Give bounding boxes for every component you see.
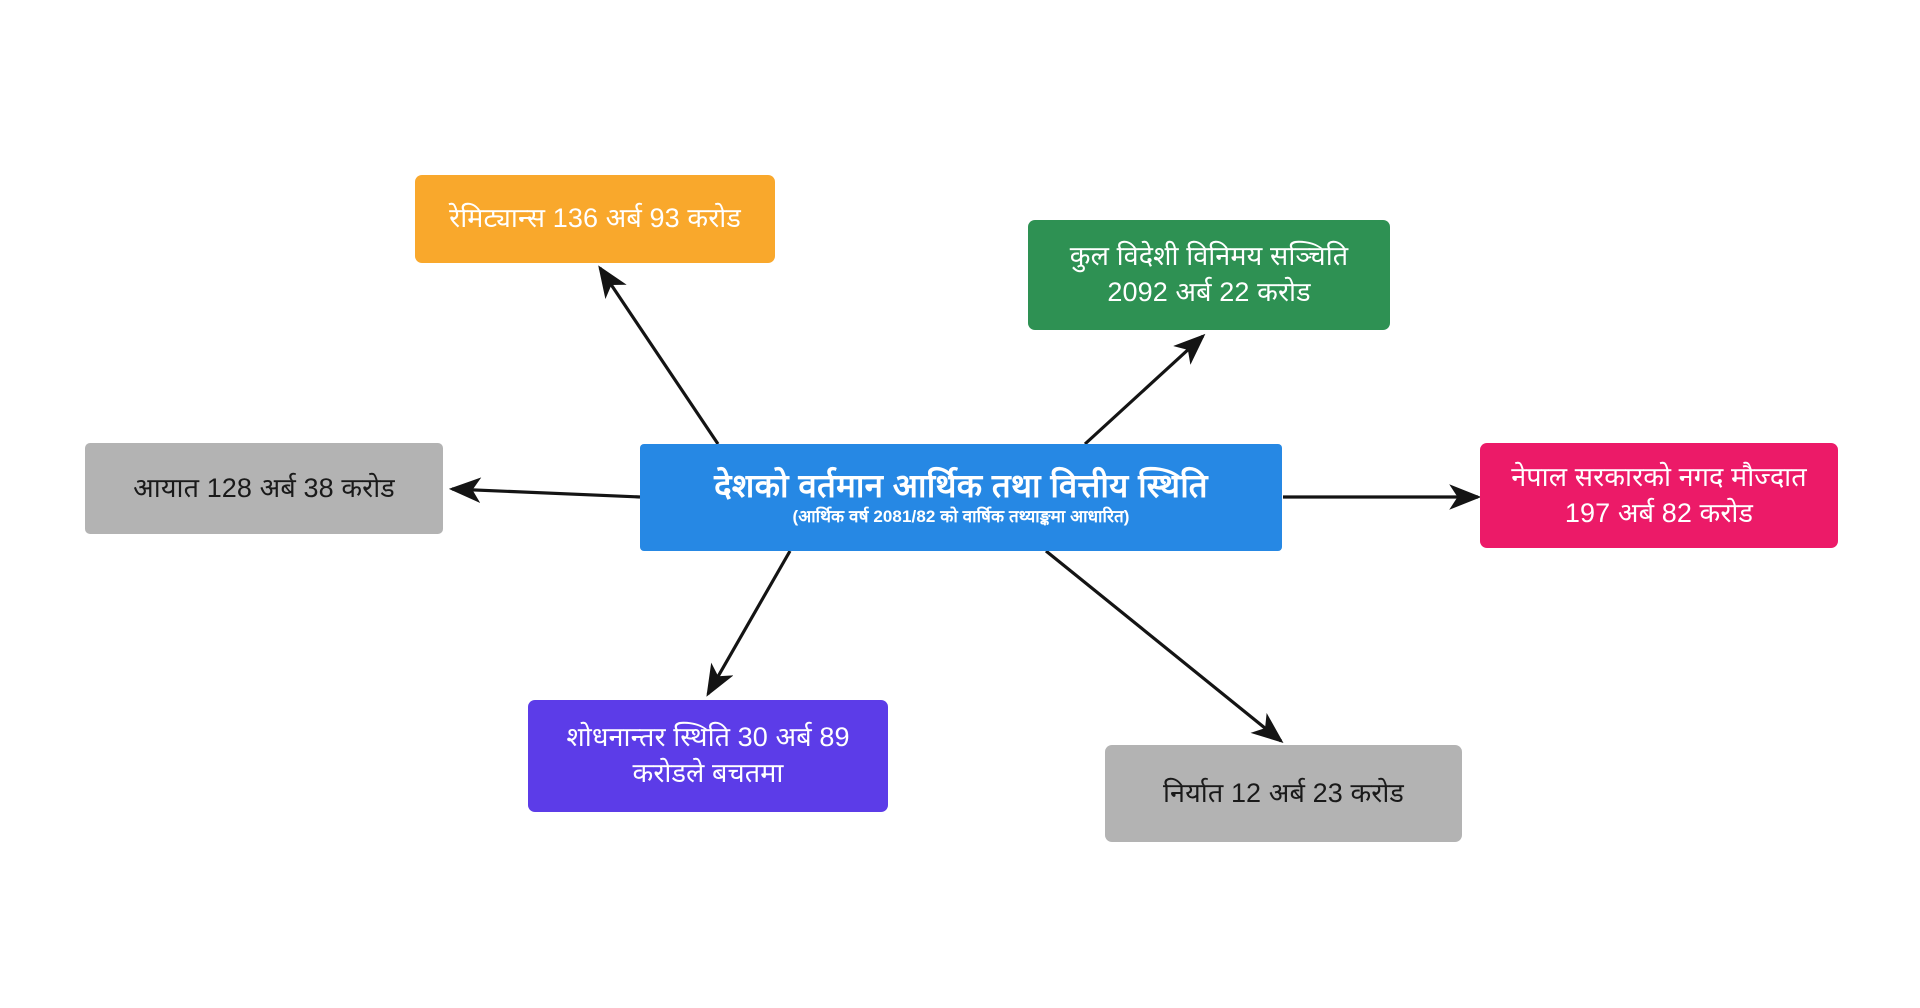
- branch-node-remittance-label: रेमिट्यान्स 136 अर्ब 93 करोड: [429, 201, 761, 237]
- branch-node-import-label: आयात 128 अर्ब 38 करोड: [99, 471, 429, 507]
- arrow-center-to-remittance: [600, 268, 718, 444]
- branch-node-bop[interactable]: शोधनान्तर स्थिति 30 अर्ब 89 करोडले बचतमा: [528, 700, 888, 812]
- arrow-center-to-import: [452, 489, 640, 497]
- arrow-center-to-forex: [1085, 336, 1203, 444]
- branch-node-forex-label: कुल विदेशी विनिमय सञ्चिति 2092 अर्ब 22 क…: [1042, 239, 1376, 310]
- center-node-title: देशको वर्तमान आर्थिक तथा वित्तीय स्थिति: [714, 468, 1208, 504]
- branch-node-forex[interactable]: कुल विदेशी विनिमय सञ्चिति 2092 अर्ब 22 क…: [1028, 220, 1390, 330]
- center-node-subtitle: (आर्थिक वर्ष 2081/82 को वार्षिक तथ्याङ्क…: [792, 507, 1129, 527]
- branch-node-bop-label: शोधनान्तर स्थिति 30 अर्ब 89 करोडले बचतमा: [542, 720, 874, 791]
- branch-node-cash-label: नेपाल सरकारको नगद मौज्दात 197 अर्ब 82 कर…: [1494, 460, 1824, 531]
- branch-node-export[interactable]: निर्यात 12 अर्ब 23 करोड: [1105, 745, 1462, 842]
- branch-node-cash[interactable]: नेपाल सरकारको नगद मौज्दात 197 अर्ब 82 कर…: [1480, 443, 1838, 548]
- branch-node-export-label: निर्यात 12 अर्ब 23 करोड: [1119, 776, 1448, 812]
- arrow-center-to-bop: [708, 551, 790, 694]
- arrow-center-to-export: [1046, 551, 1281, 741]
- branch-node-remittance[interactable]: रेमिट्यान्स 136 अर्ब 93 करोड: [415, 175, 775, 263]
- diagram-canvas: देशको वर्तमान आर्थिक तथा वित्तीय स्थिति …: [0, 0, 1920, 1008]
- branch-node-import[interactable]: आयात 128 अर्ब 38 करोड: [85, 443, 443, 534]
- center-node[interactable]: देशको वर्तमान आर्थिक तथा वित्तीय स्थिति …: [640, 444, 1282, 551]
